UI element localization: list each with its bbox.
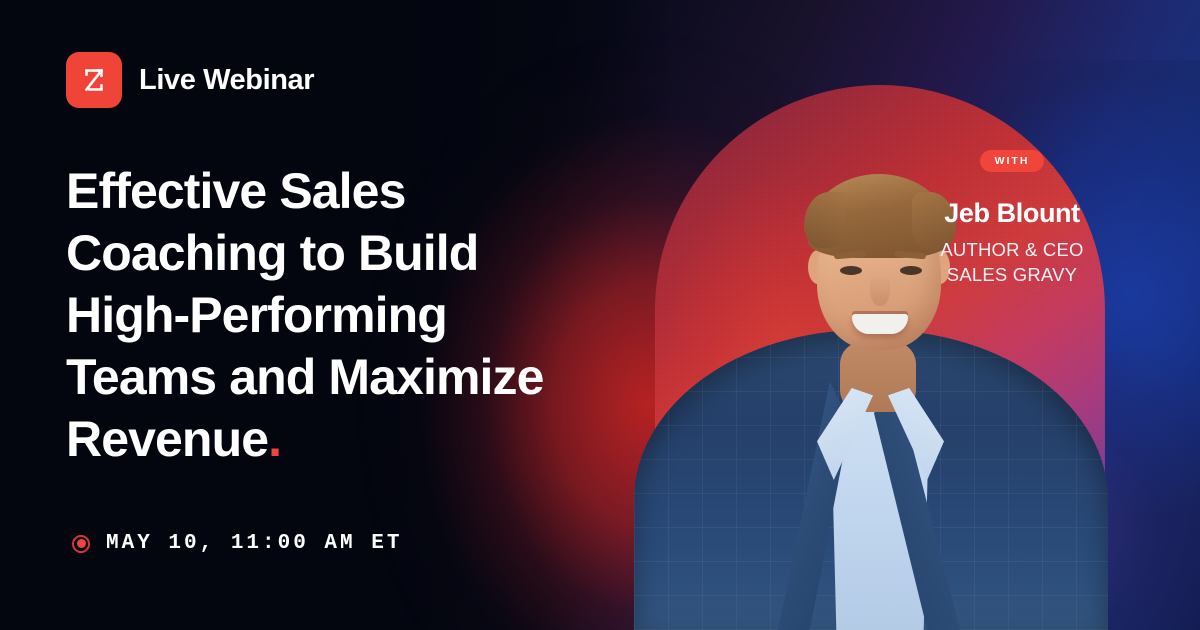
with-badge: WITH — [980, 150, 1045, 172]
live-dot-icon — [72, 535, 90, 553]
headline-line-4: Teams and Maximize — [66, 349, 544, 405]
portrait-eye-left — [840, 266, 862, 275]
speaker-name: Jeb Blount — [902, 198, 1122, 229]
schedule-row: MAY 10, 11:00 AM ET — [72, 532, 402, 555]
portrait-smile — [852, 314, 908, 334]
brand-lockup: Live Webinar — [66, 52, 314, 108]
headline-line-2: Coaching to Build — [66, 225, 478, 281]
headline-accent-period: . — [268, 411, 281, 467]
page-title: Effective Sales Coaching to Build High-P… — [66, 160, 666, 470]
headline-line-1: Effective Sales — [66, 163, 405, 219]
schedule-text: MAY 10, 11:00 AM ET — [106, 532, 402, 555]
z-arrow-logo-icon — [66, 52, 122, 108]
webinar-promo-banner: Live Webinar Effective Sales Coaching to… — [0, 0, 1200, 630]
speaker-role: AUTHOR & CEO — [902, 238, 1122, 263]
speaker-info: WITH Jeb Blount AUTHOR & CEO SALES GRAVY — [902, 150, 1122, 287]
portrait-hair-left-side — [804, 192, 846, 248]
headline-line-3: High-Performing — [66, 287, 447, 343]
headline-line-5: Revenue — [66, 411, 268, 467]
brand-label: Live Webinar — [139, 66, 314, 95]
portrait-nose — [870, 276, 890, 306]
speaker-organization: SALES GRAVY — [902, 263, 1122, 288]
